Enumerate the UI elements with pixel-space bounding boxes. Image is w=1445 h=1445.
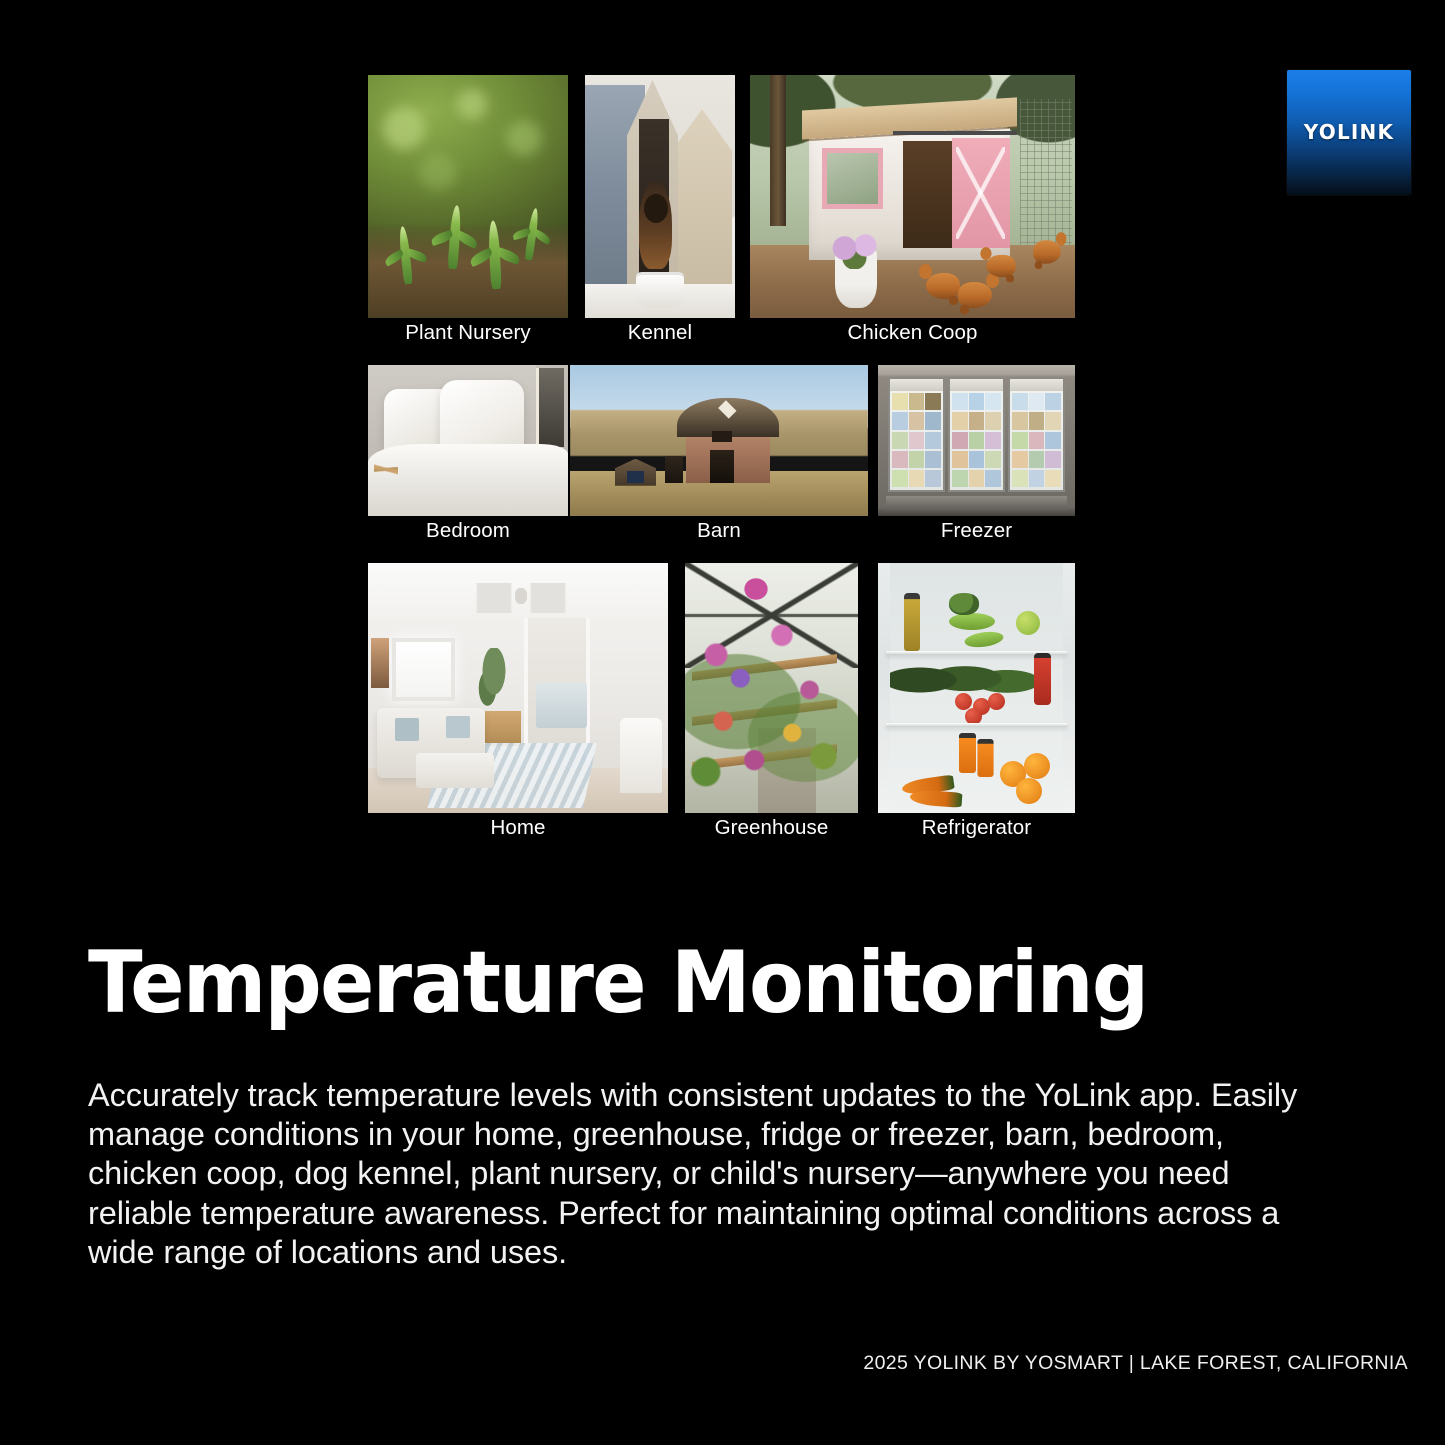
kennel-photo — [585, 75, 735, 318]
gallery-tile-label: Freezer — [941, 521, 1012, 542]
gallery-tile-label: Home — [490, 818, 545, 839]
freezer-door-header — [1010, 379, 1063, 391]
freezer-door — [1008, 377, 1065, 492]
duvet — [368, 444, 568, 516]
accent-chair — [620, 718, 662, 793]
freezer-product — [969, 470, 985, 487]
gallery-tile-plant-nursery: Plant Nursery — [368, 75, 568, 318]
gallery-tile-chicken-coop: Chicken Coop — [750, 75, 1075, 318]
orange-juice-bottle — [977, 739, 993, 777]
freezer-product — [909, 451, 925, 468]
greenhouse-photo — [685, 563, 858, 813]
bedroom-photo — [368, 365, 568, 516]
freezer-shelf — [952, 393, 1001, 410]
freezer-shelf — [1012, 470, 1061, 487]
freezer-product — [1012, 451, 1028, 468]
freezer-product — [892, 451, 908, 468]
freezer-product — [969, 393, 985, 410]
freezer-product — [1045, 432, 1061, 449]
freezer-base-grille — [886, 496, 1067, 511]
potted-flowers — [828, 231, 883, 270]
bedroom-window — [536, 368, 564, 447]
throw-pillow — [395, 718, 419, 741]
freezer-door — [948, 377, 1005, 492]
freezer-shelf — [892, 470, 941, 487]
freezer-shelf — [952, 451, 1001, 468]
side-table — [485, 711, 521, 746]
freezer-product — [952, 451, 968, 468]
freezer-product — [1045, 470, 1061, 487]
freezer-product — [1012, 412, 1028, 429]
tree-trunk — [770, 75, 786, 226]
refrigerator-photo — [878, 563, 1075, 813]
freezer-product — [952, 393, 968, 410]
freezer-product — [925, 451, 941, 468]
hanging-basket — [737, 568, 775, 603]
freezer-door-header — [890, 379, 943, 391]
freezer-shelf — [1012, 393, 1061, 410]
freezer-product — [1029, 451, 1045, 468]
dog-face — [644, 194, 668, 223]
freezer-product — [952, 412, 968, 429]
yolink-logo-text: YOLINK — [1304, 120, 1394, 144]
indoor-plant — [476, 648, 512, 713]
gallery-tile-label: Chicken Coop — [848, 323, 978, 344]
zucchini — [949, 613, 995, 630]
freezer-shelf — [952, 432, 1001, 449]
gallery-tile-bedroom: Bedroom — [368, 365, 568, 516]
freezer-product — [892, 393, 908, 410]
gallery-tile-label: Barn — [697, 521, 741, 542]
wire-fence — [1020, 99, 1072, 250]
gallery-tile-label: Plant Nursery — [405, 323, 530, 344]
freezer-product — [1045, 412, 1061, 429]
gallery-tile-label: Refrigerator — [922, 818, 1031, 839]
tomato — [955, 693, 972, 710]
juice-bottle — [1034, 653, 1051, 705]
freezer-product — [909, 432, 925, 449]
freezer-product — [1029, 412, 1045, 429]
freezer-product — [1045, 451, 1061, 468]
freezer-product — [969, 412, 985, 429]
freezer-product — [1012, 432, 1028, 449]
freezer-product — [909, 470, 925, 487]
throw-pillow — [446, 716, 470, 739]
gallery-tile-kennel: Kennel — [585, 75, 735, 318]
freezer-product — [969, 451, 985, 468]
freezer-shelf — [952, 470, 1001, 487]
description-paragraph: Accurately track temperature levels with… — [88, 1076, 1318, 1272]
dog-bowl — [636, 272, 684, 308]
freezer-shelf — [892, 451, 941, 468]
oil-bottle — [904, 593, 920, 651]
freezer-product — [985, 393, 1001, 410]
chicken — [986, 255, 1015, 277]
freezer-product — [969, 432, 985, 449]
freezer-product — [925, 470, 941, 487]
freezer-shelves — [952, 393, 1001, 486]
flowering-plants — [685, 608, 858, 803]
ceiling-fan — [467, 583, 575, 613]
gallery-tile-barn: Barn — [570, 365, 868, 516]
freezer-product — [925, 432, 941, 449]
freezer-shelf — [892, 412, 941, 429]
gallery-tile-label: Bedroom — [426, 521, 510, 542]
page-title: Temperature Monitoring — [88, 942, 1147, 1025]
broccoli — [949, 593, 979, 615]
freezer-product — [892, 412, 908, 429]
gallery-tile-refrigerator: Refrigerator — [878, 563, 1075, 813]
living-room-window — [392, 638, 455, 701]
wall-art — [371, 638, 389, 688]
gallery-tile-label: Greenhouse — [715, 818, 829, 839]
freezer-product — [1029, 470, 1045, 487]
freezer-shelf — [952, 412, 1001, 429]
freezer-door — [888, 377, 945, 492]
freezer-product — [909, 393, 925, 410]
gallery-tile-home: Home — [368, 563, 668, 813]
freezer-door-header — [950, 379, 1003, 391]
freezer-product — [985, 432, 1001, 449]
chicken-coop-photo — [750, 75, 1075, 318]
chicken — [926, 273, 960, 299]
freezer-photo — [878, 365, 1075, 516]
freezer-shelf — [1012, 432, 1061, 449]
freezer-product — [892, 432, 908, 449]
yolink-logo: YOLINK — [1287, 70, 1411, 195]
freezer-product — [1012, 393, 1028, 410]
freezer-shelf — [1012, 451, 1061, 468]
orange — [1016, 778, 1042, 804]
freezer-shelf — [892, 393, 941, 410]
barn-photo — [570, 365, 868, 516]
home-photo — [368, 563, 668, 813]
bed-through-doorway — [536, 683, 587, 728]
barn-loft-window — [712, 431, 733, 442]
freezer-glass-doors — [888, 377, 1065, 492]
dried-reeds — [374, 431, 398, 507]
barn-annex — [665, 456, 683, 483]
freezer-product — [1029, 432, 1045, 449]
chicken — [1033, 240, 1061, 263]
freezer-product — [925, 412, 941, 429]
gallery-tile-greenhouse: Greenhouse — [685, 563, 858, 813]
freezer-product — [985, 412, 1001, 429]
orange-juice-bottle — [959, 733, 976, 773]
orange — [1024, 753, 1050, 779]
freezer-product — [1045, 393, 1061, 410]
freezer-shelves — [892, 393, 941, 486]
shed-window — [627, 471, 645, 483]
freezer-product — [1012, 470, 1028, 487]
freezer-product — [1029, 393, 1045, 410]
plant-nursery-photo — [368, 75, 568, 318]
freezer-product — [985, 470, 1001, 487]
green-apple — [1016, 611, 1040, 635]
barn-door-rail — [893, 131, 1017, 135]
fridge-shelf — [886, 723, 1067, 727]
copyright-notice: 2025 YOLINK BY YOSMART | LAKE FOREST, CA… — [863, 1352, 1408, 1375]
freezer-product — [925, 393, 941, 410]
coop-window — [822, 148, 884, 209]
nursery-bokeh — [368, 75, 568, 318]
freezer-shelf — [1012, 412, 1061, 429]
freezer-shelf — [892, 432, 941, 449]
freezer-product — [952, 470, 968, 487]
freezer-product — [892, 470, 908, 487]
freezer-product — [952, 432, 968, 449]
freezer-product — [985, 451, 1001, 468]
gallery-tile-freezer: Freezer — [878, 365, 1075, 516]
ottoman — [416, 753, 494, 788]
leafy-greens — [890, 663, 1040, 697]
coop-barn-door — [952, 138, 1011, 247]
gallery-tile-label: Kennel — [628, 323, 692, 344]
freezer-product — [909, 412, 925, 429]
freezer-shelves — [1012, 393, 1061, 486]
barn-door — [710, 450, 734, 483]
